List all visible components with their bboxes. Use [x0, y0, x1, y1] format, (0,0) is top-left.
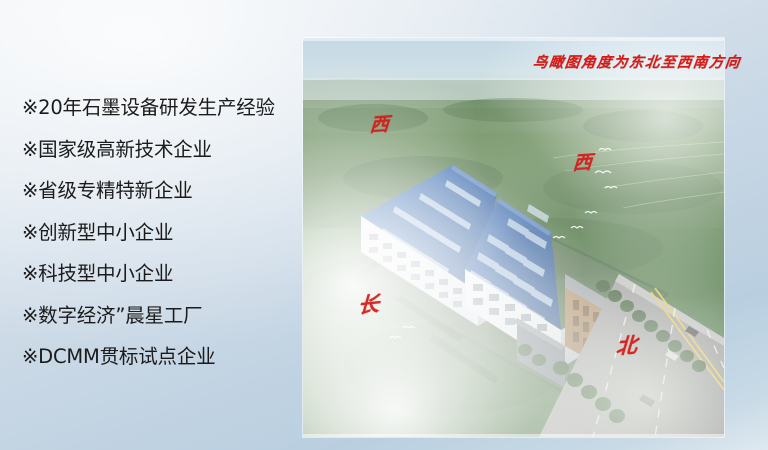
bullet-list: ※20年石墨设备研发生产经验 ※国家级高新技术企业 ※省级专精特新企业 ※创新型…	[22, 98, 297, 367]
list-item: ※DCMM贯标试点企业	[22, 347, 297, 367]
list-item: ※科技型中小企业	[22, 264, 297, 284]
list-item: ※创新型中小企业	[22, 223, 297, 243]
aerial-rendering-photo	[303, 38, 724, 437]
list-item: ※数字经济”晨星工厂	[22, 306, 297, 326]
slide-root: ※20年石墨设备研发生产经验 ※国家级高新技术企业 ※省级专精特新企业 ※创新型…	[0, 0, 768, 450]
list-item: ※国家级高新技术企业	[22, 140, 297, 160]
list-item: ※20年石墨设备研发生产经验	[22, 98, 297, 118]
list-item: ※省级专精特新企业	[22, 181, 297, 201]
aerial-scene-graphic	[303, 38, 724, 437]
